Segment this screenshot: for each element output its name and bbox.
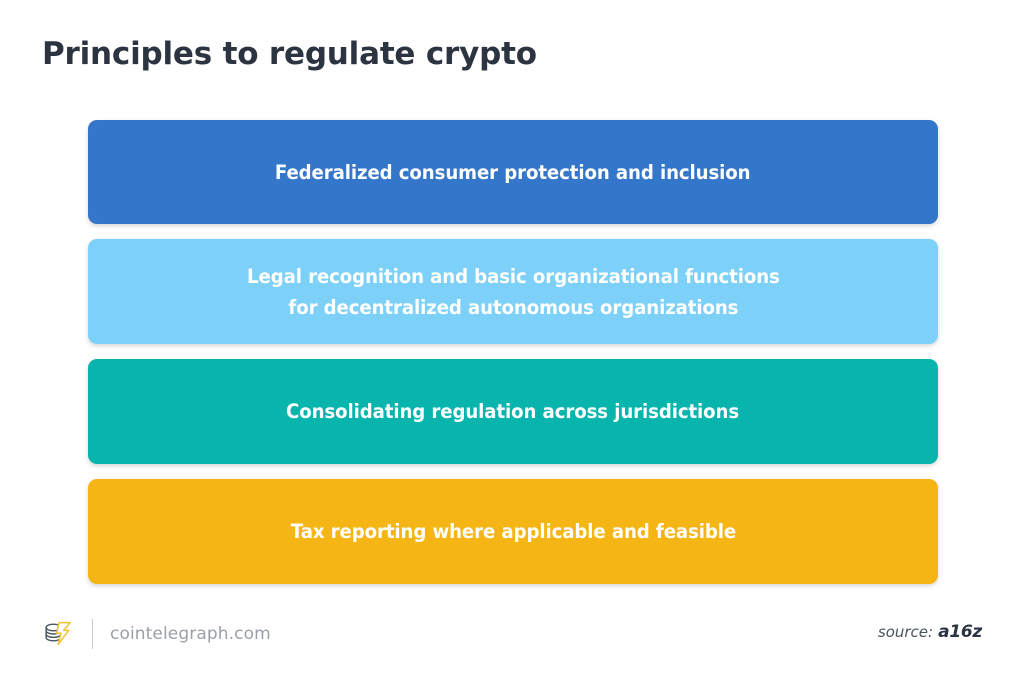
principle-label-2: Legal recognition and basic organization… <box>247 261 780 323</box>
principle-label-3: Consolidating regulation across jurisdic… <box>286 396 739 427</box>
brand-lockup[interactable]: cointelegraph.com <box>40 612 271 656</box>
cointelegraph-coin-bolt-icon <box>40 617 74 651</box>
page-title: Principles to regulate crypto <box>42 36 537 72</box>
source-credit: source: a16z <box>878 622 982 642</box>
principle-bar-3: Consolidating regulation across jurisdic… <box>88 359 938 464</box>
principle-bar-2: Legal recognition and basic organization… <box>88 239 938 344</box>
principles-list: Federalized consumer protection and incl… <box>88 120 938 599</box>
source-value: a16z <box>938 622 982 642</box>
source-label: source: <box>878 623 933 641</box>
infographic-canvas: Principles to regulate crypto Federalize… <box>0 0 1024 695</box>
principle-label-1: Federalized consumer protection and incl… <box>275 157 751 188</box>
principle-bar-4: Tax reporting where applicable and feasi… <box>88 479 938 584</box>
footer-divider <box>92 619 93 649</box>
principle-label-4: Tax reporting where applicable and feasi… <box>290 516 735 547</box>
footer: cointelegraph.com source: a16z <box>0 604 1024 674</box>
footer-site-label: cointelegraph.com <box>110 624 271 644</box>
principle-bar-1: Federalized consumer protection and incl… <box>88 120 938 224</box>
